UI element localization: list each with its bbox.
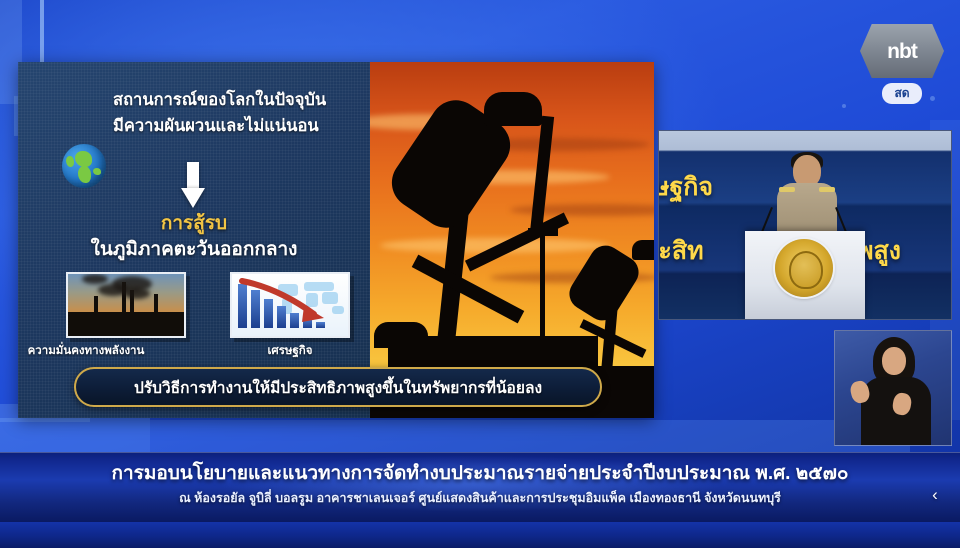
oil-pumpjack-sunset-image [370,62,654,418]
slide-content-panel: สถานการณ์ของโลกในปัจจุบัน มีความผันผวนแล… [18,62,370,418]
bottom-bar [0,522,960,548]
arrow-down-icon [181,162,205,210]
government-budget-bureau-emblem [775,239,833,297]
headline-line-1: สถานการณ์ของโลกในปัจจุบัน [113,88,365,114]
broadcast-screen: สถานการณ์ของโลกในปัจจุบัน มีความผันผวนแล… [0,0,960,548]
lower-third-title: การมอบนโยบายและแนวทางการจัดทำงบประมาณราย… [0,458,960,488]
nbt-logo-icon: nbt 2 HD [860,24,944,78]
slide-thumbnails: ความมั่นคงทางพลังงาน เศรษฐกิจ [18,272,370,364]
nbt-logo-text: nbt [887,41,917,62]
backdrop-text-line-1: ษฐกิจ [658,167,713,207]
slide-headline: สถานการณ์ของโลกในปัจจุบัน มีความผันผวนแล… [113,88,365,139]
lower-third-subtitle: ณ ห้องรอยัล จูบิลี่ บอลรูม อาคารชาเลนเจอ… [0,488,960,508]
thumbnail-caption-economy: เศรษฐกิจ [200,342,380,360]
bg-decor-band [150,420,910,454]
speaker-video-panel[interactable]: ษฐกิจ ระสิท พสูง [658,130,952,320]
globe-icon [62,144,106,188]
downward-trend-arrow-icon [238,278,342,328]
bg-decor-dot [842,104,846,108]
declining-bar-chart-image [230,272,350,338]
nbt-quality-badge: HD [945,35,958,41]
thumbnail-caption-energy: ความมั่นคงทางพลังงาน [18,342,176,360]
emphasis-white-text: ในภูมิภาคตะวันออกกลาง [18,234,370,264]
slide-banner-text: ปรับวิธีการทำงานให้มีประสิทธิภาพสูงขึ้นใ… [134,375,542,400]
presentation-slide: สถานการณ์ของโลกในปัจจุบัน มีความผันผวนแล… [18,62,654,418]
channel-logo: nbt 2 HD สด [854,24,950,102]
pollution-smokestacks-image [66,272,186,338]
live-badge: สด [882,83,921,104]
slide-banner: ปรับวิธีการทำงานให้มีประสิทธิภาพสูงขึ้นใ… [74,367,602,407]
lower-third-bar: การมอบนโยบายและแนวทางการจัดทำงบประมาณราย… [0,452,960,522]
nav-previous-chevron-icon[interactable]: ‹ [924,482,946,508]
headline-line-2: มีความผันผวนและไม่แน่นอน [113,114,365,140]
speaker-figure [777,155,837,241]
nbt-channel-number: 2 [949,22,956,37]
pumpjack-small [566,238,654,388]
backdrop-text-line-2: ระสิท [658,231,704,271]
sign-language-interpreter-panel[interactable] [834,330,952,446]
interpreter-face [882,347,906,375]
podium [745,231,865,320]
